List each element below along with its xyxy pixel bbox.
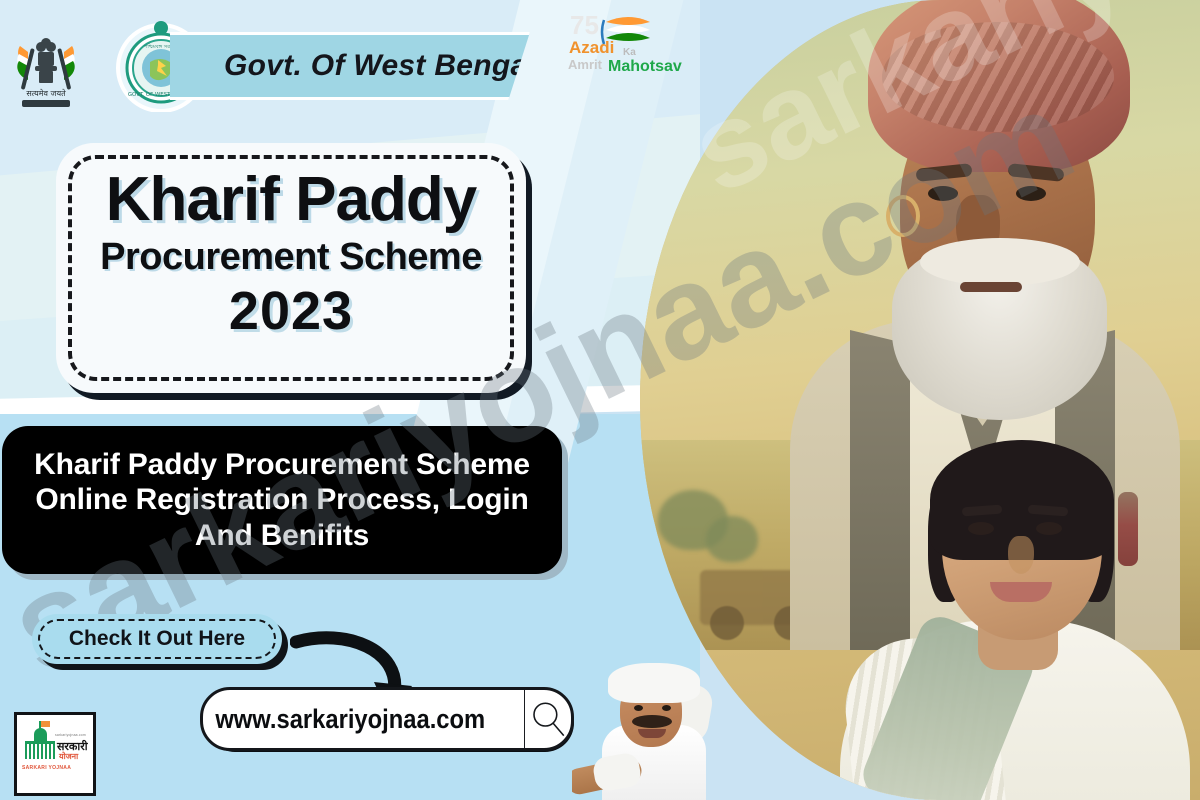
- azadi-number: 75: [570, 10, 599, 41]
- page-title-year: 2023: [56, 284, 526, 338]
- farmer-eye: [928, 186, 958, 201]
- turban-icon: [868, 0, 1130, 172]
- page-title-line2: Procurement Scheme: [56, 238, 526, 276]
- azadi-amrit-label: Amrit: [568, 57, 602, 72]
- woman-eye: [968, 522, 994, 535]
- photo-panel: [640, 0, 1200, 800]
- woman-eye: [1036, 522, 1062, 535]
- cta-label: Check It Out Here: [69, 627, 245, 651]
- sarkari-yojnaa-logo[interactable]: sarkariyojnaa.com सरकारी योजना SARKARI Y…: [14, 712, 96, 796]
- logo-top-url: sarkariyojnaa.com: [55, 733, 86, 737]
- svg-text:सत्यमेव जयते: सत्यमेव जयते: [26, 88, 66, 98]
- logo-dome: [34, 728, 47, 741]
- mascot-moustache-icon: [632, 715, 672, 728]
- woman-portrait-figure: [850, 440, 1180, 800]
- logo-inner: sarkariyojnaa.com सरकारी योजना SARKARI Y…: [17, 715, 93, 793]
- farmer-eye: [1016, 186, 1046, 201]
- search-input[interactable]: www.sarkariyojnaa.com: [203, 704, 485, 735]
- gov-banner: Govt. Of West Bengal: [170, 32, 530, 100]
- head-cloth-icon: [608, 663, 700, 703]
- woman-nose: [1008, 536, 1034, 574]
- magnifier-icon[interactable]: [525, 698, 571, 740]
- gov-banner-label: Govt. Of West Bengal: [170, 49, 536, 83]
- mascot-eye: [662, 705, 671, 711]
- promotional-banner: sarkariyojnaa.com सत्यमेव जयते: [0, 0, 1200, 800]
- azadi-label: Azadi: [569, 38, 614, 58]
- azadi-ka-amrit-mahotsav-logo: 75 Azadi Ka Amrit Mahotsav: [566, 8, 686, 82]
- mascot-eye: [634, 705, 643, 711]
- cart-wheel-icon: [710, 606, 744, 640]
- farmer-mouth: [960, 282, 1022, 292]
- logo-flag-icon: [41, 721, 50, 727]
- logo-hindi-secondary: योजना: [59, 751, 78, 762]
- earring-icon: [886, 195, 920, 237]
- azadi-ka-label: Ka: [623, 47, 636, 58]
- india-national-emblem-icon: सत्यमेव जयते: [8, 22, 84, 114]
- logo-english-label: SARKARI YOJNAA: [22, 765, 71, 771]
- parliament-building-icon: [25, 741, 55, 759]
- search-bar[interactable]: www.sarkariyojnaa.com: [200, 687, 574, 751]
- photo-mask: [640, 0, 1200, 800]
- tree-icon: [706, 516, 758, 562]
- title-card: Kharif Paddy Procurement Scheme 2023: [56, 143, 526, 393]
- subtitle-banner: Kharif Paddy Procurement Scheme Online R…: [2, 426, 562, 574]
- check-it-out-button[interactable]: Check It Out Here: [32, 614, 282, 664]
- moustache-icon: [920, 238, 1080, 286]
- subtitle-text: Kharif Paddy Procurement Scheme Online R…: [2, 447, 562, 553]
- azadi-mahotsav-label: Mahotsav: [608, 58, 682, 76]
- farmer-mascot-pointing: [572, 655, 722, 800]
- page-title-line1: Kharif Paddy: [56, 169, 526, 231]
- tassel-icon: [1118, 492, 1138, 566]
